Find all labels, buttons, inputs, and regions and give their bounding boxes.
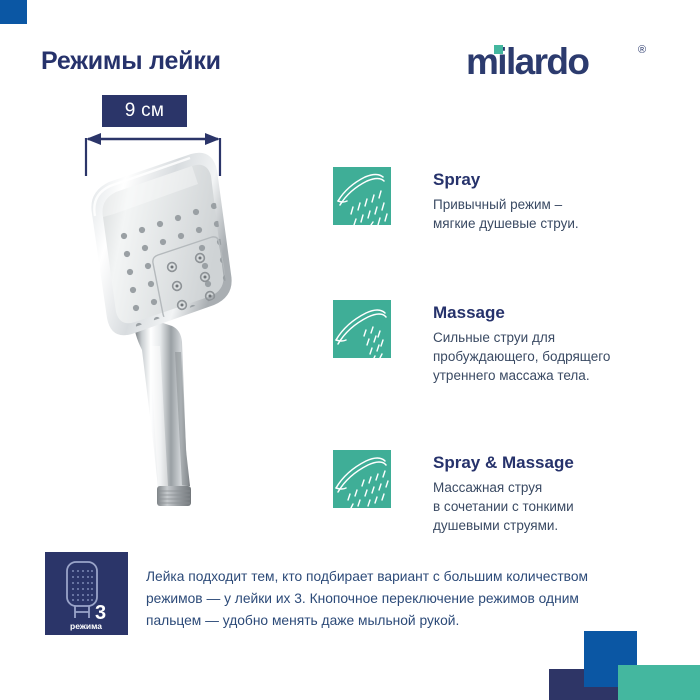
feature-title: Spray xyxy=(433,170,663,190)
shower-spray-icon xyxy=(333,167,391,225)
feature-text-block: Spray Привычный режим – мягкие душевые с… xyxy=(433,170,663,233)
feature-title: Spray & Massage xyxy=(433,453,663,473)
feature-text-block: Massage Сильные струи для пробуждающего,… xyxy=(433,303,663,385)
shower-spray-massage-icon xyxy=(333,450,391,508)
summary-text: Лейка подходит тем, кто подбирает вариан… xyxy=(146,566,671,632)
feature-item-massage: Massage Сильные струи для пробуждающего,… xyxy=(333,300,663,385)
feature-description: Сильные струи для пробуждающего, бодряще… xyxy=(433,328,663,385)
feature-description: Привычный режим – мягкие душевые струи. xyxy=(433,195,663,233)
feature-title: Massage xyxy=(433,303,663,323)
product-photo xyxy=(62,150,252,522)
shower-massage-icon xyxy=(333,300,391,358)
feature-description: Массажная струя в сочетании с тонкими ду… xyxy=(433,478,663,535)
feature-text-block: Spray & Massage Массажная струя в сочета… xyxy=(433,453,663,535)
modes-count-badge: 3 режима xyxy=(45,552,128,635)
brand-logo-dot xyxy=(494,45,503,54)
brand-logo: milardo ® xyxy=(466,42,588,82)
dimension-badge: 9 см xyxy=(102,95,187,127)
brand-logo-wordmark: milardo xyxy=(466,42,588,82)
feature-item-spray: Spray Привычный режим – мягкие душевые с… xyxy=(333,167,663,233)
feature-item-spray-massage: Spray & Massage Массажная струя в сочета… xyxy=(333,450,663,535)
page-title: Режимы лейки xyxy=(41,47,221,76)
registered-trademark-icon: ® xyxy=(638,44,646,56)
badge-label: режима xyxy=(70,621,102,631)
infographic-page: Режимы лейки milardo ® 9 см xyxy=(0,0,700,700)
decor-square-teal xyxy=(618,665,700,700)
decor-square-top-left xyxy=(0,0,27,24)
